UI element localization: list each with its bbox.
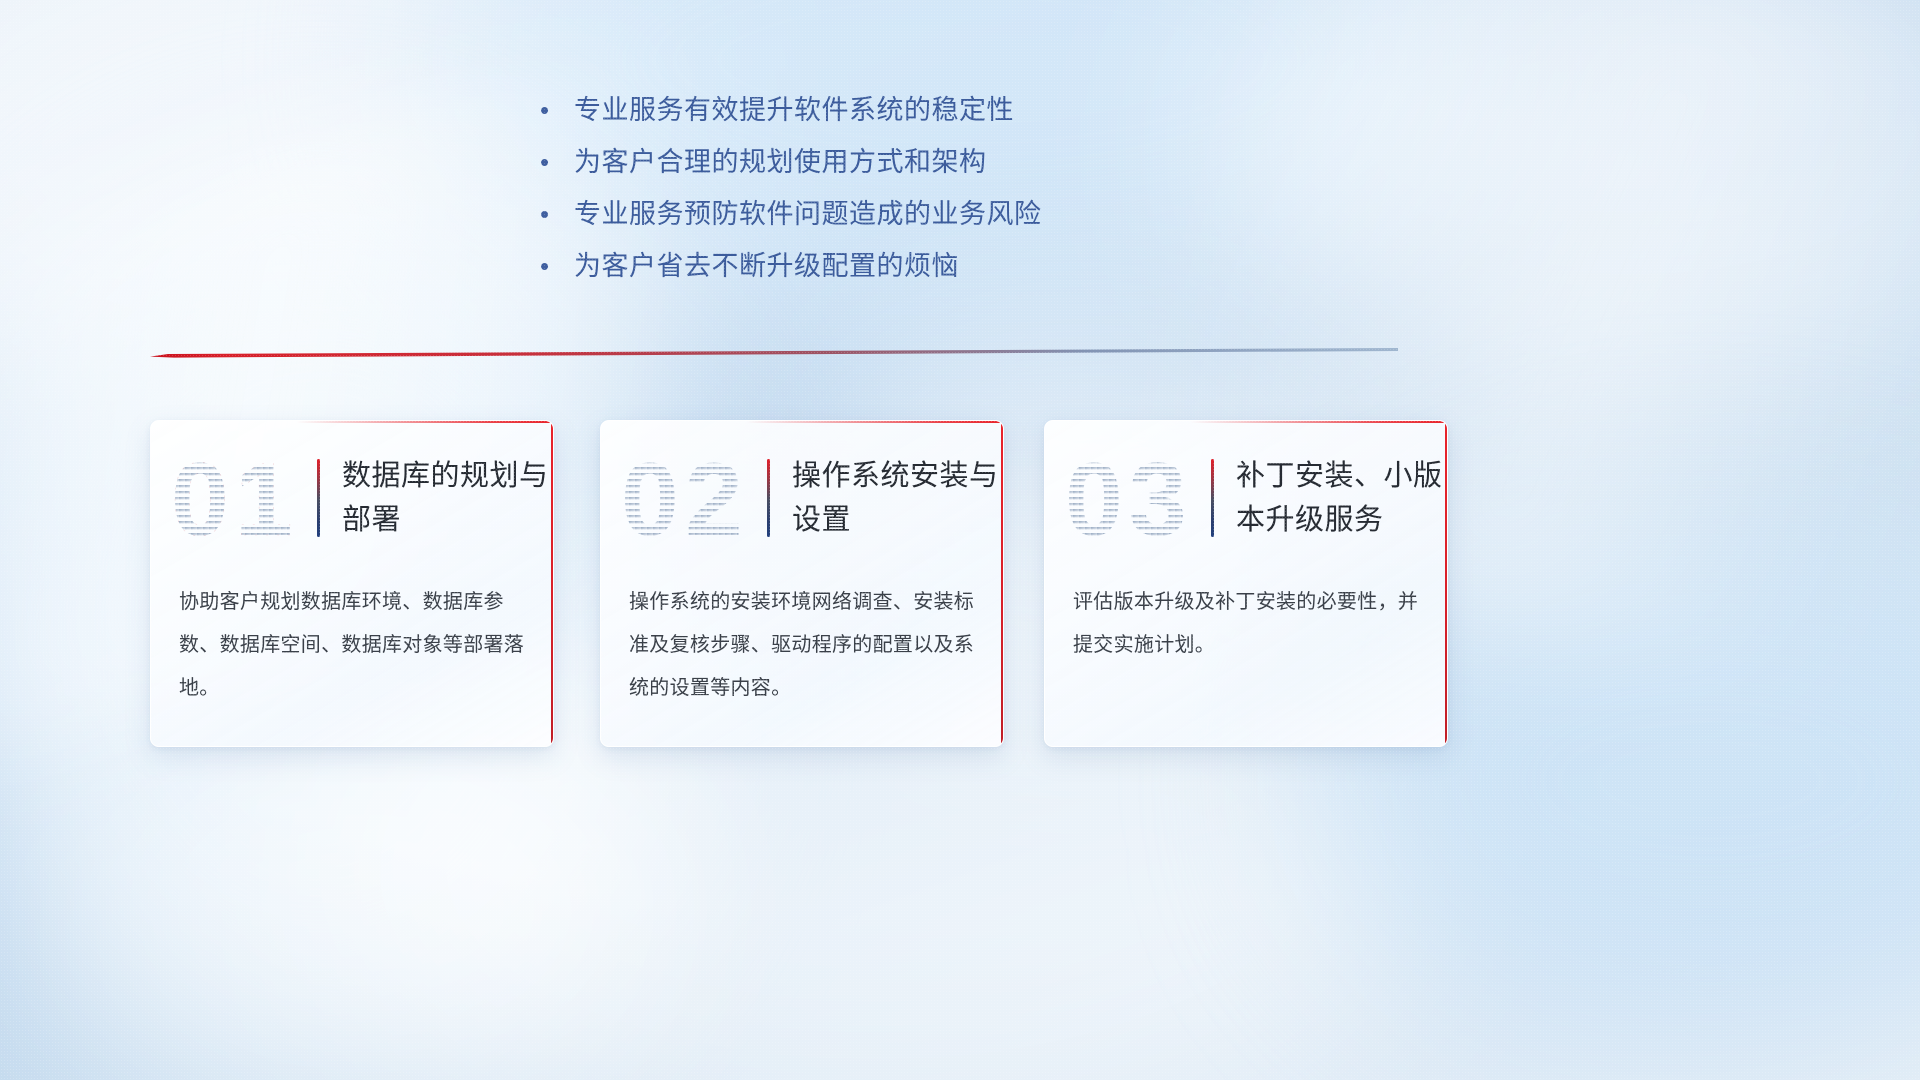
service-card-group: 01 01 数据库的规划与部署 协助客户规划数据库环境、数据库参数、数据库空间、… (150, 420, 1470, 750)
bullet-text-4: 为客户省去不断升级配置的烦恼 (574, 246, 959, 286)
bullet-marker-icon: • (540, 90, 574, 130)
service-card-03[interactable]: 03 补丁安装、小版本升级服务 评估版本升级及补丁安装的必要性，并提交实施计划。 (1044, 420, 1448, 747)
svg-text:03: 03 (1065, 443, 1193, 553)
bullet-marker-icon: • (540, 194, 574, 234)
list-item: • 专业服务有效提升软件系统的稳定性 (540, 90, 1440, 142)
bullet-text-1: 专业服务有效提升软件系统的稳定性 (574, 90, 1014, 130)
card-header: 02 操作系统安装与设置 (601, 439, 1003, 557)
card-number-03-icon: 03 (1061, 443, 1211, 553)
card-header: 03 补丁安装、小版本升级服务 (1045, 439, 1447, 557)
bullet-marker-icon: • (540, 142, 574, 182)
gradient-rule-icon (150, 348, 1398, 360)
list-item: • 专业服务预防软件问题造成的业务风险 (540, 194, 1440, 246)
card-title: 补丁安装、小版本升级服务 (1236, 454, 1447, 542)
bullet-text-2: 为客户合理的规划使用方式和架构 (574, 142, 987, 182)
list-item: • 为客户合理的规划使用方式和架构 (540, 142, 1440, 194)
bullet-marker-icon: • (540, 246, 574, 286)
card-description: 评估版本升级及补丁安装的必要性，并提交实施计划。 (1073, 581, 1425, 667)
card-title-rule (1211, 459, 1214, 537)
card-title: 数据库的规划与部署 (342, 454, 553, 542)
card-top-accent (296, 421, 553, 423)
card-top-accent (746, 421, 1003, 423)
card-title-rule (767, 459, 770, 537)
card-description: 操作系统的安装环境网络调查、安装标准及复核步骤、驱动程序的配置以及系统的设置等内… (629, 581, 981, 710)
svg-text:02: 02 (621, 443, 749, 553)
card-number-01-icon: 01 01 (167, 443, 317, 553)
list-item: • 为客户省去不断升级配置的烦恼 (540, 246, 1440, 298)
service-card-02[interactable]: 02 操作系统安装与设置 操作系统的安装环境网络调查、安装标准及复核步骤、驱动程… (600, 420, 1004, 747)
card-top-accent (1190, 421, 1447, 423)
card-title-rule (317, 459, 320, 537)
section-divider (150, 348, 1398, 360)
card-number-02-icon: 02 (617, 443, 767, 553)
service-card-01[interactable]: 01 01 数据库的规划与部署 协助客户规划数据库环境、数据库参数、数据库空间、… (150, 420, 554, 747)
card-header: 01 01 数据库的规划与部署 (151, 439, 553, 557)
svg-text:01: 01 (171, 443, 299, 553)
bullet-text-3: 专业服务预防软件问题造成的业务风险 (574, 194, 1042, 234)
card-title: 操作系统安装与设置 (792, 454, 1003, 542)
card-description: 协助客户规划数据库环境、数据库参数、数据库空间、数据库对象等部署落地。 (179, 581, 531, 710)
benefits-bullet-list: • 专业服务有效提升软件系统的稳定性 • 为客户合理的规划使用方式和架构 • 专… (540, 90, 1440, 298)
